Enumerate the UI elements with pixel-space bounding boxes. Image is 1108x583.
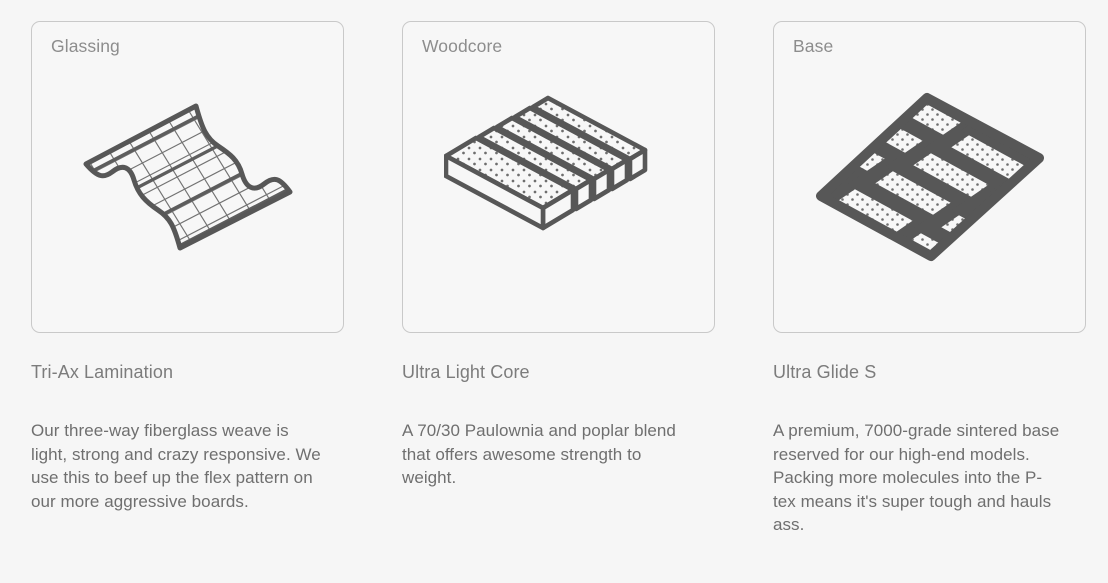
card-title-base: Base bbox=[793, 34, 833, 58]
card-title-woodcore: Woodcore bbox=[422, 34, 502, 58]
feature-column-base: Base bbox=[773, 21, 1086, 537]
feature-body-ultra-glide-s: A premium, 7000-grade sintered base rese… bbox=[773, 419, 1063, 537]
illustration-wood-strip-core-block bbox=[403, 22, 714, 332]
feature-heading-ultra-glide-s: Ultra Glide S bbox=[773, 361, 1086, 383]
feature-card-woodcore[interactable]: Woodcore bbox=[402, 21, 715, 333]
feature-heading-ultra-light-core: Ultra Light Core bbox=[402, 361, 715, 383]
feature-card-grid: Glassing bbox=[31, 21, 1090, 537]
card-title-glassing: Glassing bbox=[51, 34, 120, 58]
feature-column-glassing: Glassing bbox=[31, 21, 344, 537]
feature-column-woodcore: Woodcore bbox=[402, 21, 715, 537]
board-construction-page: Glassing bbox=[0, 0, 1108, 583]
feature-heading-tri-ax-lamination: Tri-Ax Lamination bbox=[31, 361, 344, 383]
feature-body-tri-ax-lamination: Our three-way fiberglass weave is light,… bbox=[31, 419, 321, 513]
feature-body-ultra-light-core: A 70/30 Paulownia and poplar blend that … bbox=[402, 419, 692, 490]
illustration-woven-mesh-sheet bbox=[32, 22, 343, 332]
feature-card-base[interactable]: Base bbox=[773, 21, 1086, 333]
feature-card-glassing[interactable]: Glassing bbox=[31, 21, 344, 333]
illustration-zigzag-sintered-base bbox=[774, 22, 1085, 332]
